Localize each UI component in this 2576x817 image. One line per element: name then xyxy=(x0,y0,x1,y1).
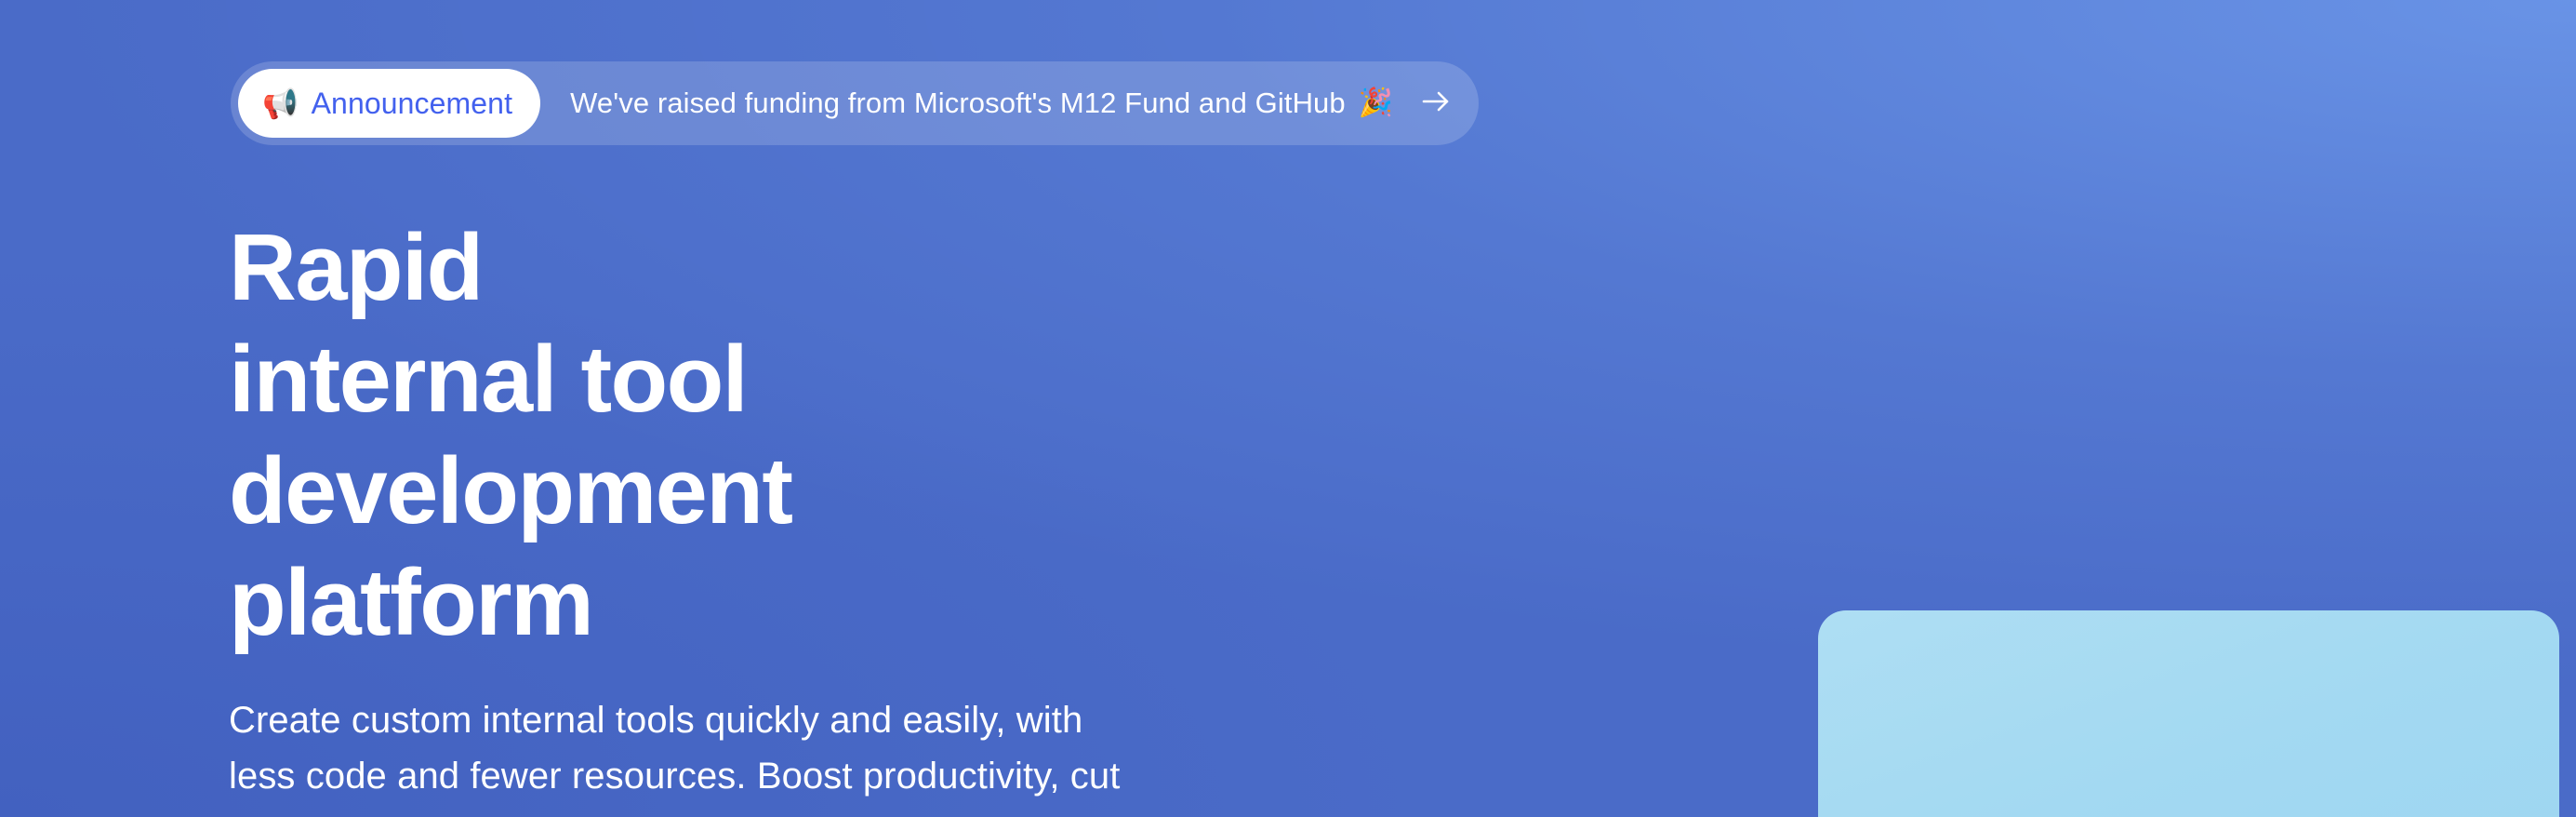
announcement-banner[interactable]: 📢 Announcement We've raised funding from… xyxy=(231,61,1479,145)
hero-copy: Rapid internal tool development platform… xyxy=(229,212,1215,817)
hero-section: 📢 Announcement We've raised funding from… xyxy=(0,0,2576,817)
hero-subtitle: Create custom internal tools quickly and… xyxy=(229,692,1159,817)
announcement-badge-label: Announcement xyxy=(312,87,512,121)
product-preview-card xyxy=(1818,610,2559,817)
party-popper-icon: 🎉 xyxy=(1359,89,1393,117)
announcement-message: We've raised funding from Microsoft's M1… xyxy=(570,87,1346,120)
megaphone-icon: 📢 xyxy=(262,89,299,118)
announcement-badge: 📢 Announcement xyxy=(238,69,540,138)
page-title: Rapid internal tool development platform xyxy=(229,212,824,659)
arrow-right-icon[interactable] xyxy=(1417,83,1454,125)
